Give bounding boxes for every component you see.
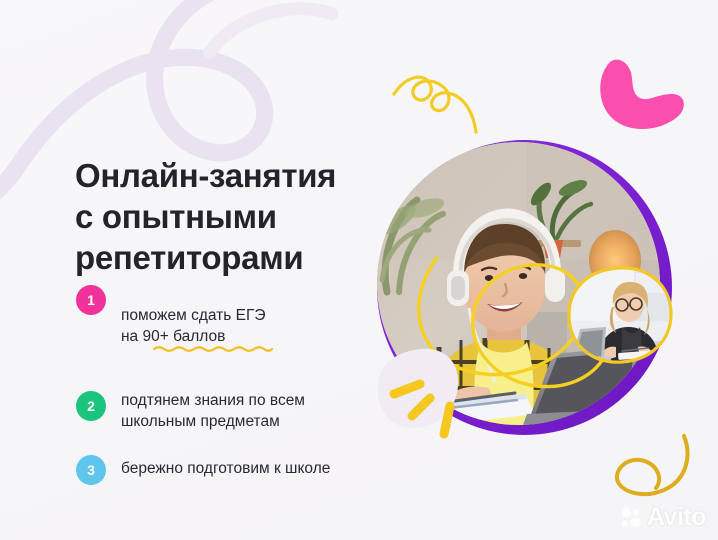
avito-wordmark: Avito (647, 505, 706, 530)
benefit-badge-1: 1 (76, 285, 106, 315)
benefit-text-1-value: поможем сдать ЕГЭ на 90+ баллов (121, 307, 266, 345)
benefits-list: 1 поможем сдать ЕГЭ на 90+ баллов 2 подт… (76, 284, 396, 485)
female-tutor-inset-photo (566, 265, 674, 365)
benefit-text-3: бережно подготовим к школе (121, 454, 330, 479)
yellow-curl-icon (612, 430, 704, 502)
yellow-squiggle-loops-icon (392, 62, 488, 134)
benefit-text-1: поможем сдать ЕГЭ на 90+ баллов (121, 284, 266, 368)
list-item: 1 поможем сдать ЕГЭ на 90+ баллов (76, 284, 396, 368)
page-title: Онлайн-занятия с опытными репетиторами (75, 155, 365, 278)
list-item: 3 бережно подготовим к школе (76, 454, 396, 485)
list-item: 2 подтянем знания по всем школьным предм… (76, 390, 396, 432)
benefit-text-2: подтянем знания по всем школьным предмет… (121, 390, 305, 432)
banner-canvas: Онлайн-занятия с опытными репетиторами 1… (0, 0, 718, 540)
hero-photo (377, 140, 672, 435)
headline-line-3: репетиторами (75, 237, 365, 278)
pink-crescent-blob-icon (596, 58, 688, 132)
headline-line-2: с опытными (75, 196, 365, 237)
avito-logo-icon (620, 507, 642, 529)
avito-watermark: Avito (620, 505, 706, 530)
headline-line-1: Онлайн-занятия (75, 155, 365, 196)
benefit-badge-2: 2 (76, 391, 106, 421)
benefit-badge-3: 3 (76, 455, 106, 485)
